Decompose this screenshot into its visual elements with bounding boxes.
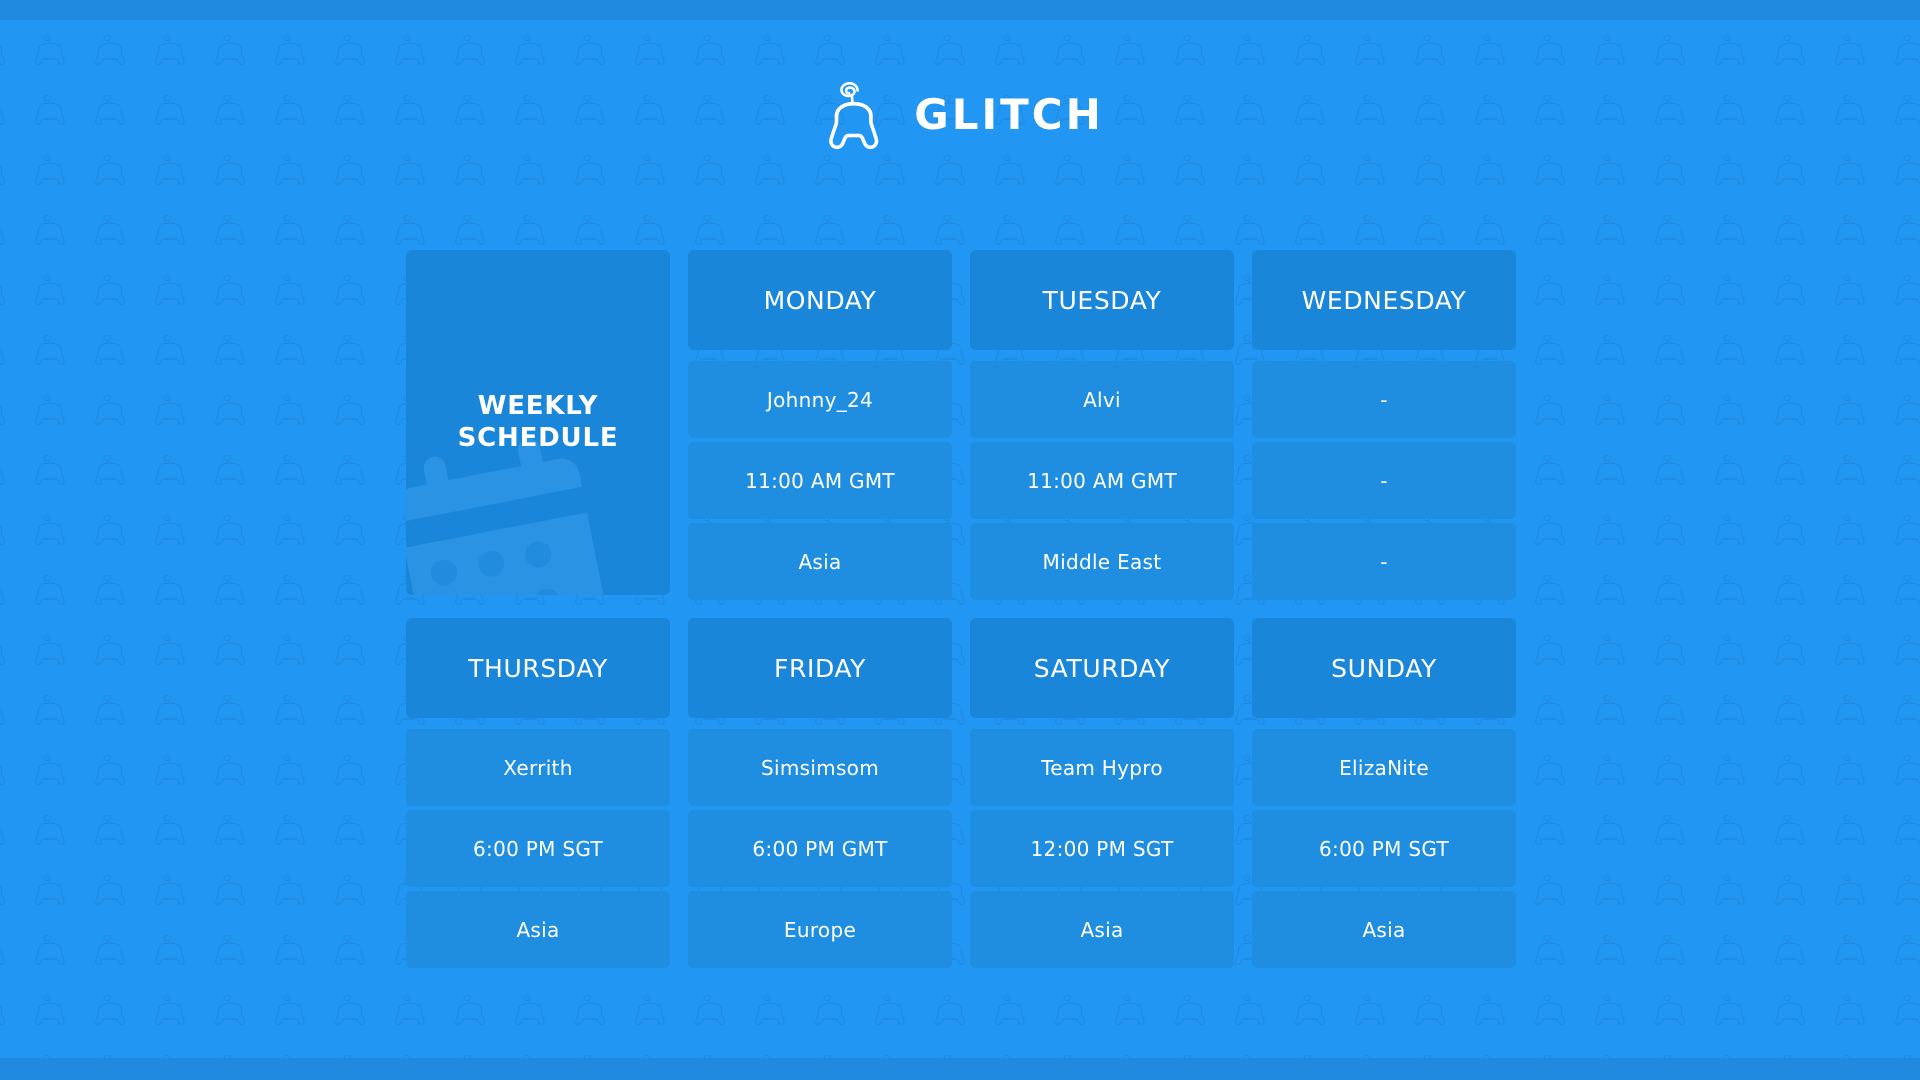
day-cell-player[interactable]: Simsimsom [688,729,952,806]
day-cell-region[interactable]: Asia [406,891,670,968]
day-cell-region[interactable]: Asia [970,891,1234,968]
weekly-title-line-1: WEEKLY [458,391,619,423]
day-cell-region[interactable]: Asia [1252,891,1516,968]
weekly-schedule-title: WEEKLY SCHEDULE [458,391,619,454]
day-cells-friday: Simsimsom 6:00 PM GMT Europe [688,729,952,968]
day-column-tuesday: TUESDAY Alvi 11:00 AM GMT Middle East [970,250,1234,600]
bottom-band [0,1058,1920,1080]
game-controller-icon [816,78,892,152]
day-cell-player[interactable]: Johnny_24 [688,361,952,438]
day-cell-player[interactable]: Team Hypro [970,729,1234,806]
day-column-wednesday: WEDNESDAY - - - [1252,250,1516,600]
day-cell-time[interactable]: 6:00 PM SGT [406,810,670,887]
brand-header: GLITCH [0,78,1920,152]
day-column-friday: FRIDAY Simsimsom 6:00 PM GMT Europe [688,618,952,968]
day-cell-time[interactable]: 11:00 AM GMT [970,442,1234,519]
weekly-schedule-grid: WEEKLY SCHEDULE MONDAY Johnny_24 11:00 A… [406,250,1516,968]
day-column-monday: MONDAY Johnny_24 11:00 AM GMT Asia [688,250,952,600]
day-cells-saturday: Team Hypro 12:00 PM SGT Asia [970,729,1234,968]
day-cell-time[interactable]: - [1252,442,1516,519]
day-header-tuesday[interactable]: TUESDAY [970,250,1234,350]
day-cell-player[interactable]: - [1252,361,1516,438]
day-cell-region[interactable]: Europe [688,891,952,968]
day-cell-region[interactable]: Middle East [970,523,1234,600]
calendar-icon [406,431,618,595]
day-cell-region[interactable]: Asia [688,523,952,600]
day-cell-time[interactable]: 11:00 AM GMT [688,442,952,519]
day-header-monday[interactable]: MONDAY [688,250,952,350]
brand-name: GLITCH [914,94,1104,136]
day-cells-monday: Johnny_24 11:00 AM GMT Asia [688,361,952,600]
top-band [0,0,1920,20]
day-column-sunday: SUNDAY ElizaNite 6:00 PM SGT Asia [1252,618,1516,968]
day-cell-time[interactable]: 6:00 PM SGT [1252,810,1516,887]
day-header-friday[interactable]: FRIDAY [688,618,952,718]
day-header-saturday[interactable]: SATURDAY [970,618,1234,718]
day-cell-player[interactable]: Alvi [970,361,1234,438]
day-header-thursday[interactable]: THURSDAY [406,618,670,718]
day-cells-thursday: Xerrith 6:00 PM SGT Asia [406,729,670,968]
weekly-title-line-2: SCHEDULE [458,423,619,455]
weekly-schedule-title-panel: WEEKLY SCHEDULE [406,250,670,595]
day-cell-region[interactable]: - [1252,523,1516,600]
schedule-week-row: WEEKLY SCHEDULE MONDAY Johnny_24 11:00 A… [406,250,1516,600]
schedule-week-row: THURSDAY Xerrith 6:00 PM SGT Asia FRIDAY… [406,618,1516,968]
day-column-saturday: SATURDAY Team Hypro 12:00 PM SGT Asia [970,618,1234,968]
day-column-thursday: THURSDAY Xerrith 6:00 PM SGT Asia [406,618,670,968]
day-cells-tuesday: Alvi 11:00 AM GMT Middle East [970,361,1234,600]
day-cell-player[interactable]: ElizaNite [1252,729,1516,806]
day-header-wednesday[interactable]: WEDNESDAY [1252,250,1516,350]
day-cell-player[interactable]: Xerrith [406,729,670,806]
day-cell-time[interactable]: 6:00 PM GMT [688,810,952,887]
day-cells-sunday: ElizaNite 6:00 PM SGT Asia [1252,729,1516,968]
day-cells-wednesday: - - - [1252,361,1516,600]
day-cell-time[interactable]: 12:00 PM SGT [970,810,1234,887]
day-header-sunday[interactable]: SUNDAY [1252,618,1516,718]
